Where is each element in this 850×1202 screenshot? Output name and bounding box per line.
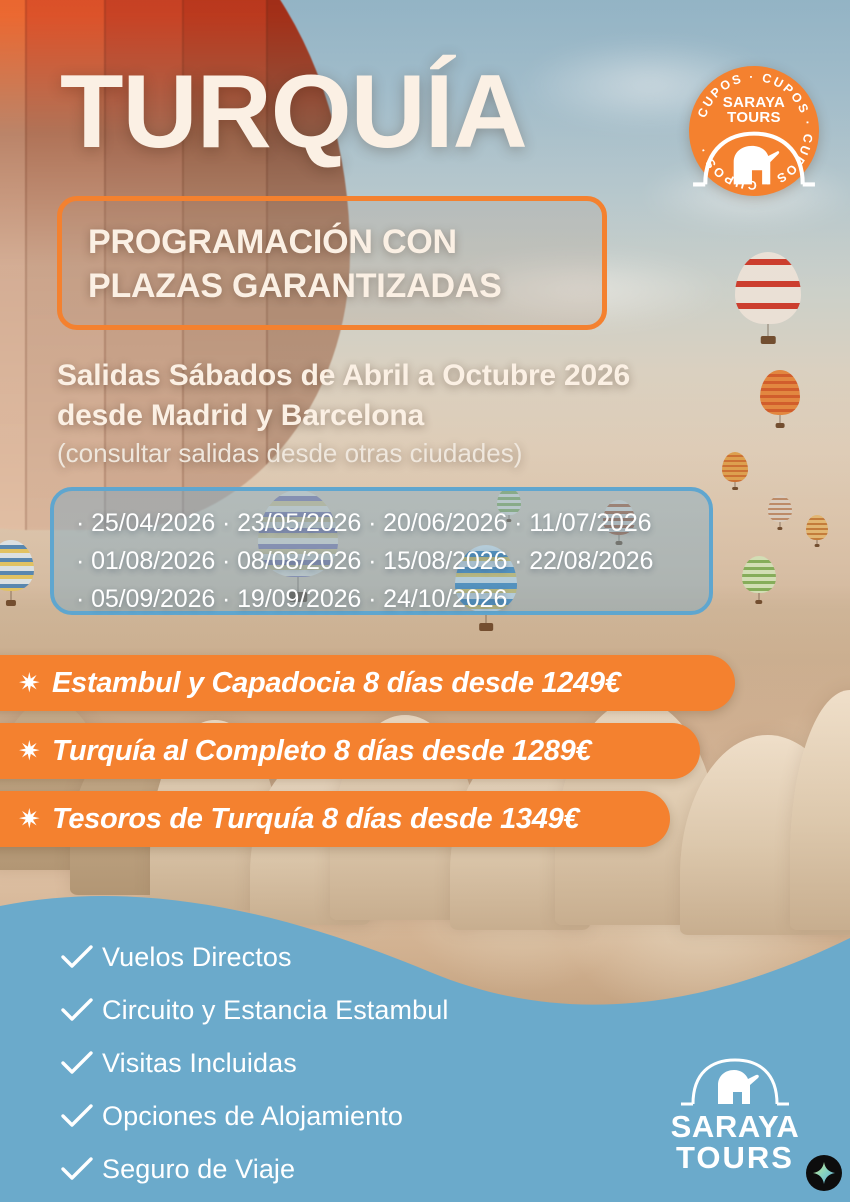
include-label: Vuelos Directos (102, 942, 292, 973)
footer-logo-line2: TOURS (660, 1142, 810, 1175)
cupos-badge: CUPOS · CUPOS · CUPOS · CUPOS · SARAYA T… (689, 66, 819, 196)
list-item: Vuelos Directos (60, 935, 448, 979)
include-label: Seguro de Viaje (102, 1154, 295, 1185)
include-label: Opciones de Alojamiento (102, 1101, 403, 1132)
list-item: Visitas Incluidas (60, 1041, 448, 1085)
guarantee-box: PROGRAMACIÓN CON PLAZAS GARANTIZADAS (57, 196, 607, 330)
dates-row: · 25/04/2026 · 23/05/2026 · 20/06/2026 ·… (76, 504, 709, 542)
ai-watermark-badge (806, 1155, 842, 1191)
offer-bar[interactable]: ✷ Tesoros de Turquía 8 días desde 1349€ (0, 791, 670, 847)
departures-note: (consultar salidas desde otras ciudades) (57, 437, 797, 471)
departure-dates-box: · 25/04/2026 · 23/05/2026 · 20/06/2026 ·… (50, 487, 713, 615)
departures-block: Salidas Sábados de Abril a Octubre 2026 … (57, 356, 797, 471)
star-icon: ✷ (18, 738, 41, 765)
dates-row: · 01/08/2026 · 08/08/2026 · 15/08/2026 ·… (76, 542, 709, 580)
check-icon (60, 1156, 102, 1182)
check-icon (60, 1050, 102, 1076)
offer-text: Estambul y Capadocia 8 días desde 1249€ (52, 667, 621, 700)
list-item: Seguro de Viaje (60, 1147, 448, 1191)
check-icon (60, 1103, 102, 1129)
offer-bar[interactable]: ✷ Turquía al Completo 8 días desde 1289€ (0, 723, 700, 779)
dates-row: · 05/09/2026 · 19/09/2026 · 24/10/2026 (76, 580, 709, 618)
check-icon (60, 997, 102, 1023)
star-icon: ✷ (18, 806, 41, 833)
departures-line1: Salidas Sábados de Abril a Octubre 2026 (57, 356, 797, 396)
list-item: Opciones de Alojamiento (60, 1094, 448, 1138)
include-label: Visitas Incluidas (102, 1048, 297, 1079)
include-label: Circuito y Estancia Estambul (102, 995, 448, 1026)
list-item: Circuito y Estancia Estambul (60, 988, 448, 1032)
sparkle-star-icon (812, 1161, 836, 1185)
offer-text: Tesoros de Turquía 8 días desde 1349€ (52, 803, 579, 836)
badge-core: SARAYA TOURS (689, 93, 819, 126)
check-icon (60, 944, 102, 970)
offer-text: Turquía al Completo 8 días desde 1289€ (52, 735, 591, 768)
star-icon: ✷ (18, 670, 41, 697)
camel-arch-icon (689, 93, 819, 223)
footer-logo-line1: SARAYA (660, 1111, 810, 1142)
guarantee-line1: PROGRAMACIÓN CON (88, 221, 576, 265)
page-title: TURQUÍA (60, 62, 527, 164)
departures-line2: desde Madrid y Barcelona (57, 396, 797, 436)
offer-bar[interactable]: ✷ Estambul y Capadocia 8 días desde 1249… (0, 655, 735, 711)
footer-logo: SARAYA TOURS (660, 1055, 810, 1175)
poster-content: TURQUÍA CUPOS · CUPOS · CUPOS · CUPOS · … (0, 0, 850, 1202)
camel-arch-icon (679, 1055, 791, 1107)
guarantee-line2: PLAZAS GARANTIZADAS (88, 265, 576, 309)
travel-poster: TURQUÍA CUPOS · CUPOS · CUPOS · CUPOS · … (0, 0, 850, 1202)
includes-list: Vuelos Directos Circuito y Estancia Esta… (60, 935, 448, 1200)
